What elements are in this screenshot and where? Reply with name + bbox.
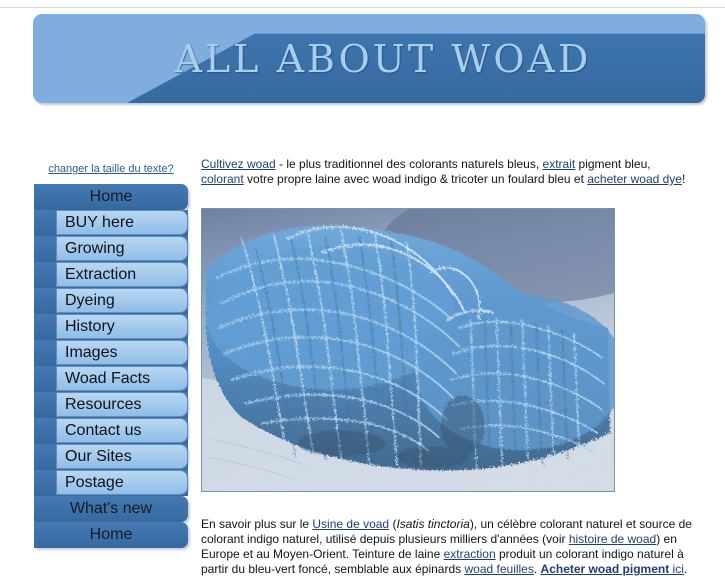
nav-item-dyeing[interactable]: Dyeing <box>34 288 188 314</box>
outro-text-7: . <box>684 562 687 576</box>
nav-item-postage[interactable]: Postage <box>34 470 188 496</box>
nav-item-woad-facts[interactable]: Woad Facts <box>34 366 188 392</box>
page-root: ALL ABOUT WOAD changer la taille du text… <box>0 0 725 580</box>
outro-text-6: . <box>534 562 541 576</box>
nav-item-growing[interactable]: Growing <box>34 236 188 262</box>
nav-label: Resources <box>56 392 188 417</box>
nav-label: Home <box>90 526 133 543</box>
nav-item-whats-new[interactable]: What's new <box>34 496 188 522</box>
intro-text-2: pigment bleu, <box>575 157 650 171</box>
outro-paragraph: En savoir plus sur le Usine de voad (Isa… <box>201 517 697 577</box>
site-title: ALL ABOUT WOAD <box>33 37 705 81</box>
nav-label: Images <box>56 340 188 365</box>
nav-item-buy-here[interactable]: BUY here <box>34 210 188 236</box>
text-size-link-wrapper: changer la taille du texte? <box>34 159 188 177</box>
outro-paragraph-wrapper: En savoir plus sur le Usine de voad (Isa… <box>201 517 697 577</box>
nav-label: Postage <box>56 470 188 495</box>
link-woad-feuilles[interactable]: woad feuilles <box>464 562 533 576</box>
woad-yarn-photo <box>201 208 615 492</box>
species-name: Isatis tinctoria <box>396 517 469 531</box>
site-header-banner: ALL ABOUT WOAD <box>33 14 705 103</box>
nav-label: Growing <box>56 236 188 261</box>
link-colorant[interactable]: colorant <box>201 172 244 186</box>
nav-item-images[interactable]: Images <box>34 340 188 366</box>
link-usine-de-voad[interactable]: Usine de voad <box>312 517 389 531</box>
nav-item-resources[interactable]: Resources <box>34 392 188 418</box>
link-histoire-de-woad[interactable]: histoire de woad <box>569 532 656 546</box>
link-ici[interactable]: ici <box>669 562 684 576</box>
nav-label: Dyeing <box>56 288 188 313</box>
nav-item-home-bottom[interactable]: Home <box>34 522 188 548</box>
nav-label: History <box>56 314 188 339</box>
intro-text-4: ! <box>682 172 685 186</box>
nav-item-our-sites[interactable]: Our Sites <box>34 444 188 470</box>
nav-label: Woad Facts <box>56 366 188 391</box>
browser-chrome-divider <box>0 7 725 8</box>
intro-paragraph: Cultivez woad - le plus traditionnel des… <box>201 157 693 187</box>
nav-label: Extraction <box>56 262 188 287</box>
woad-yarn-illustration <box>202 209 614 491</box>
intro-text-1: - le plus traditionnel des colorants nat… <box>276 157 543 171</box>
link-cultivez-woad[interactable]: Cultivez woad <box>201 157 276 171</box>
link-acheter-woad-pigment[interactable]: Acheter woad pigment <box>541 562 670 576</box>
intro-paragraph-wrapper: Cultivez woad - le plus traditionnel des… <box>201 157 693 187</box>
nav-label: Home <box>90 188 133 205</box>
nav-item-extraction[interactable]: Extraction <box>34 262 188 288</box>
nav-label: BUY here <box>56 210 188 235</box>
nav-label: Our Sites <box>56 444 188 469</box>
nav-item-home-top[interactable]: Home <box>34 184 188 210</box>
link-extraction[interactable]: extraction <box>444 547 496 561</box>
nav-item-contact-us[interactable]: Contact us <box>34 418 188 444</box>
intro-text-3: votre propre laine avec woad indigo & tr… <box>244 172 588 186</box>
nav-label: Contact us <box>56 418 188 443</box>
outro-text-1: En savoir plus sur le <box>201 517 312 531</box>
nav-label: What's new <box>70 500 152 517</box>
change-text-size-link[interactable]: changer la taille du texte? <box>48 163 173 175</box>
nav-item-history[interactable]: History <box>34 314 188 340</box>
link-extrait[interactable]: extrait <box>543 157 576 171</box>
link-acheter-woad-dye[interactable]: acheter woad dye <box>587 172 682 186</box>
main-navigation: Home BUY here Growing Extraction Dyeing … <box>34 184 188 548</box>
